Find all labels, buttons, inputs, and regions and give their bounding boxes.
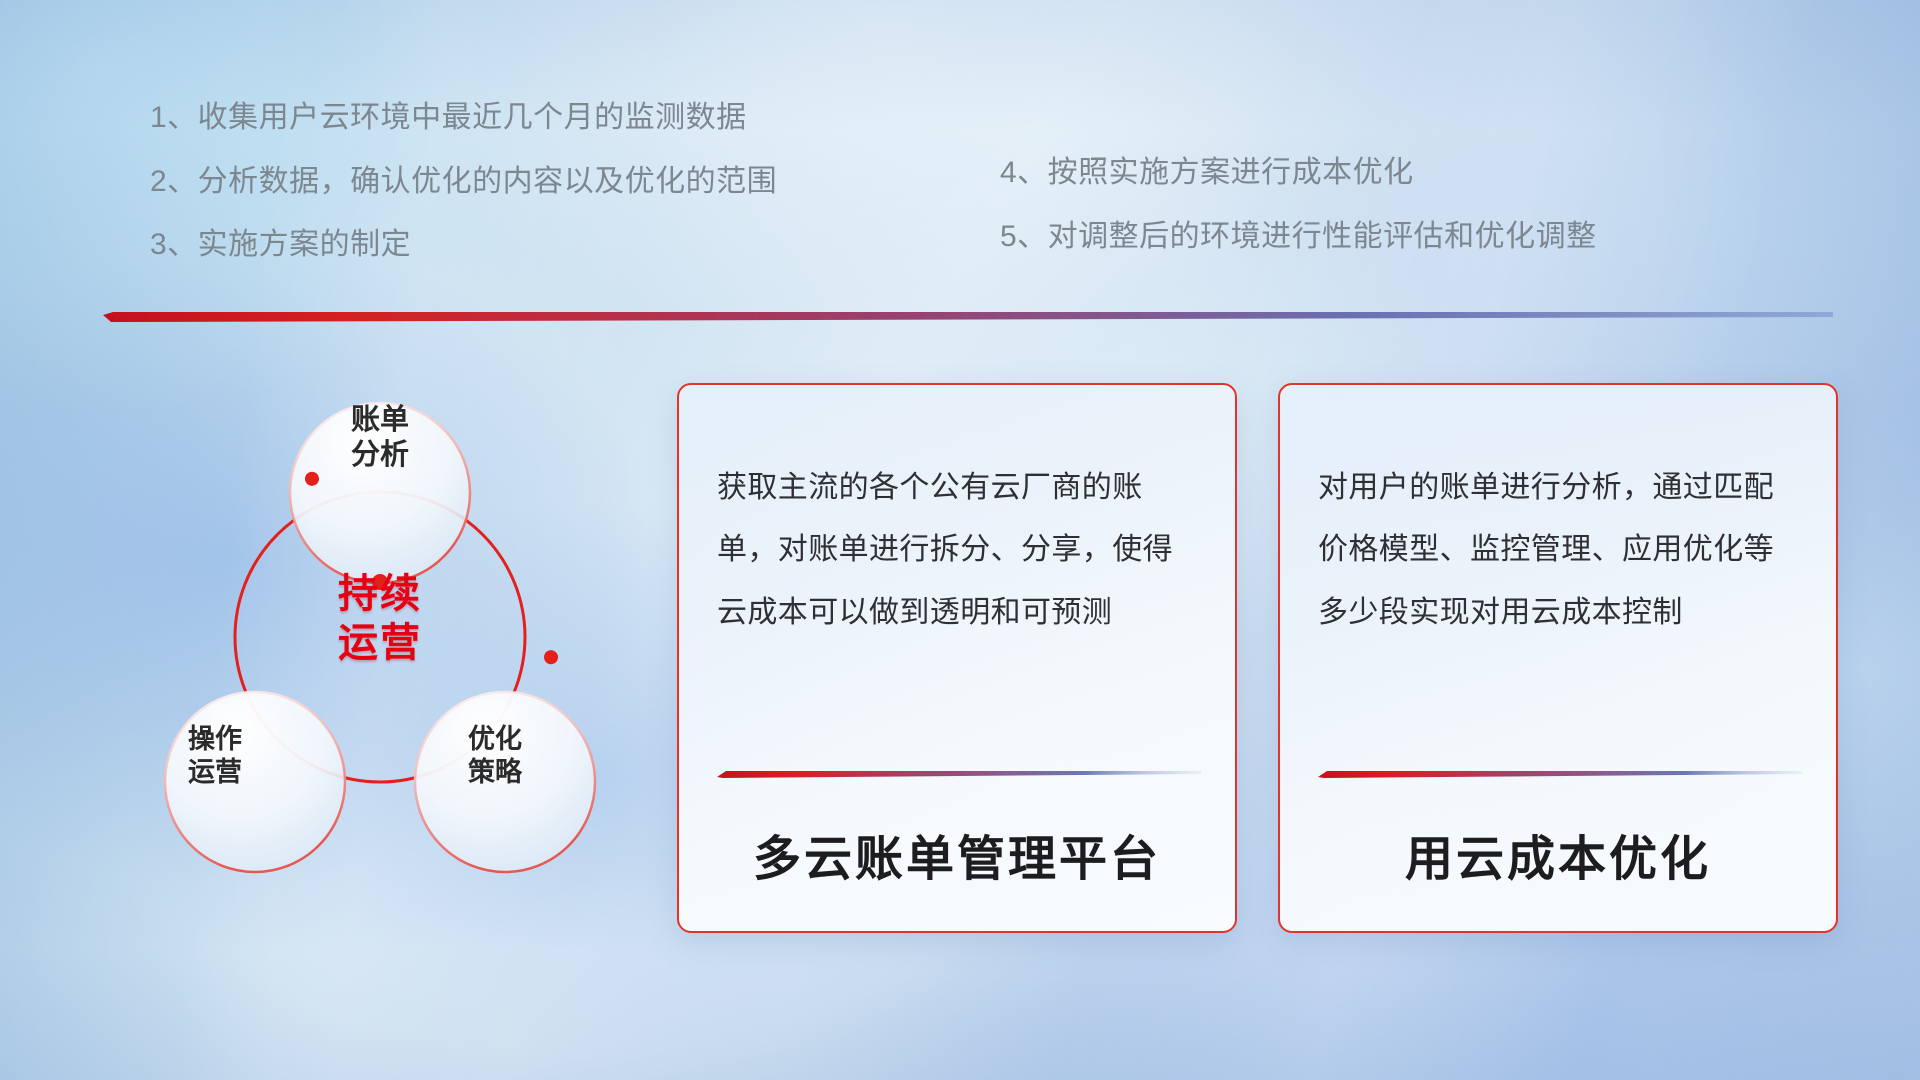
card-body-text: 获取主流的各个公有云厂商的账单，对账单进行拆分、分享，使得云成本可以做到透明和可… <box>679 385 1235 644</box>
step-item-2: 2、分析数据，确认优化的内容以及优化的范围 <box>150 164 777 201</box>
step-item-1: 1、收集用户云环境中最近几个月的监测数据 <box>150 100 777 137</box>
venn-diagram: 账单 分析 操作 运营 优化 策略 持续 运营 <box>95 345 635 945</box>
card-body-text: 对用户的账单进行分析，通过匹配价格模型、监控管理、应用优化等多少段实现对用云成本… <box>1280 385 1836 644</box>
card-multi-cloud-billing-platform[interactable]: 获取主流的各个公有云厂商的账单，对账单进行拆分、分享，使得云成本可以做到透明和可… <box>677 383 1237 933</box>
venn-label-optimization: 优化 策略 <box>415 723 575 789</box>
venn-node-right <box>541 648 560 667</box>
steps-right-column: 4、按照实施方案进行成本优化 5、对调整后的环境进行性能评估和优化调整 <box>1000 155 1597 282</box>
venn-label-operations: 操作 运营 <box>135 723 295 789</box>
step-item-5: 5、对调整后的环境进行性能评估和优化调整 <box>1000 219 1597 256</box>
card-divider-rule <box>1318 770 1802 779</box>
card-title: 多云账单管理平台 <box>679 819 1235 889</box>
venn-label-continuous-ops: 持续 运营 <box>285 570 475 668</box>
card-title: 用云成本优化 <box>1280 819 1836 889</box>
card-divider-rule <box>717 770 1201 779</box>
header-divider-rule <box>103 312 1833 323</box>
step-item-4: 4、按照实施方案进行成本优化 <box>1000 155 1597 192</box>
step-item-3: 3、实施方案的制定 <box>150 227 777 264</box>
venn-label-billing-analysis: 账单 分析 <box>290 403 470 474</box>
steps-left-column: 1、收集用户云环境中最近几个月的监测数据 2、分析数据，确认优化的内容以及优化的… <box>150 100 777 291</box>
card-cloud-cost-optimization[interactable]: 对用户的账单进行分析，通过匹配价格模型、监控管理、应用优化等多少段实现对用云成本… <box>1278 383 1838 933</box>
